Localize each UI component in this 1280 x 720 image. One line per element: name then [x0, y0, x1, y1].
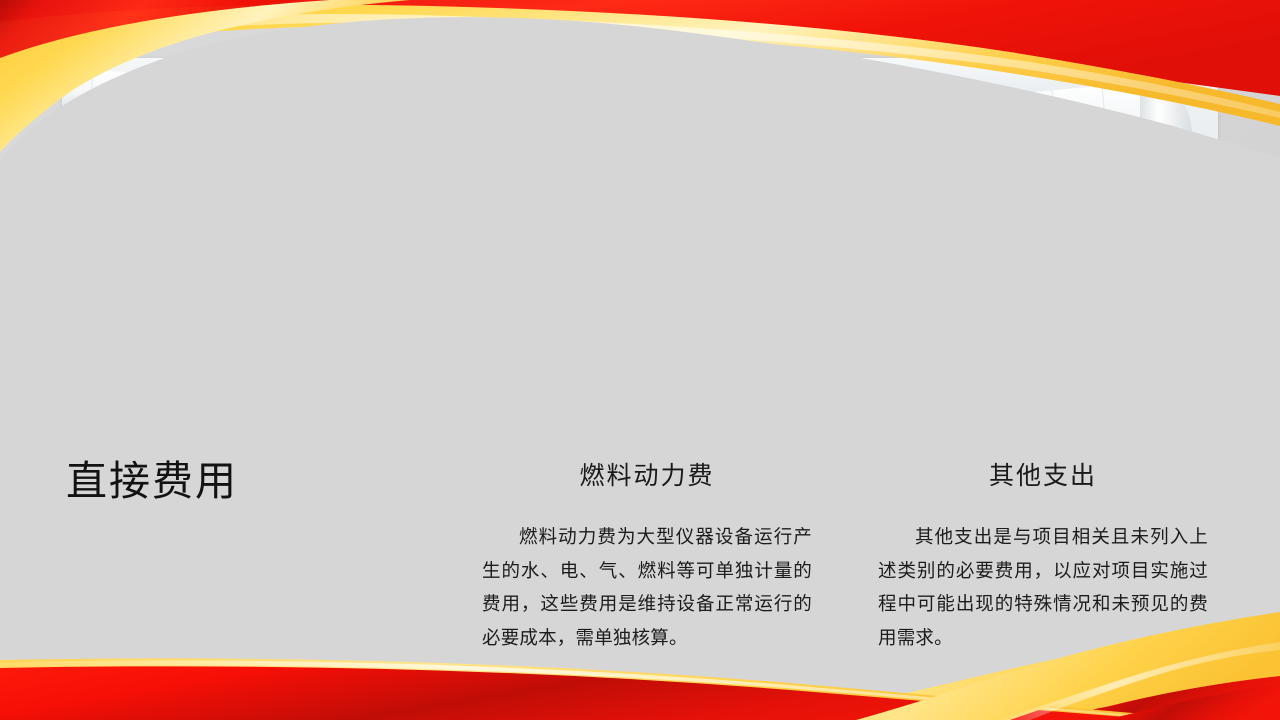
column-2-heading: 其他支出: [878, 462, 1208, 492]
content-column-1: 燃料动力费 燃料动力费为大型仪器设备运行产生的水、电、气、燃料等可单独计量的费用…: [482, 462, 812, 657]
column-1-body: 燃料动力费为大型仪器设备运行产生的水、电、气、燃料等可单独计量的费用，这些费用是…: [482, 522, 812, 657]
column-1-heading: 燃料动力费: [482, 462, 812, 492]
lab-analyzer-instrument: [790, 244, 1030, 366]
laboratory-photo: [62, 58, 1218, 406]
content-column-2: 其他支出 其他支出是与项目相关且未列入上述类别的必要费用，以应对项目实施过程中可…: [878, 462, 1208, 657]
presentation-slide: 直接费用 燃料动力费 燃料动力费为大型仪器设备运行产生的水、电、气、燃料等可单独…: [0, 0, 1280, 720]
sample-tray-left: [402, 356, 514, 368]
laboratory-photo-illustration: [62, 58, 1218, 406]
column-2-body: 其他支出是与项目相关且未列入上述类别的必要费用，以应对项目实施过程中可能出现的特…: [878, 522, 1208, 657]
page-title: 直接费用: [66, 458, 238, 505]
